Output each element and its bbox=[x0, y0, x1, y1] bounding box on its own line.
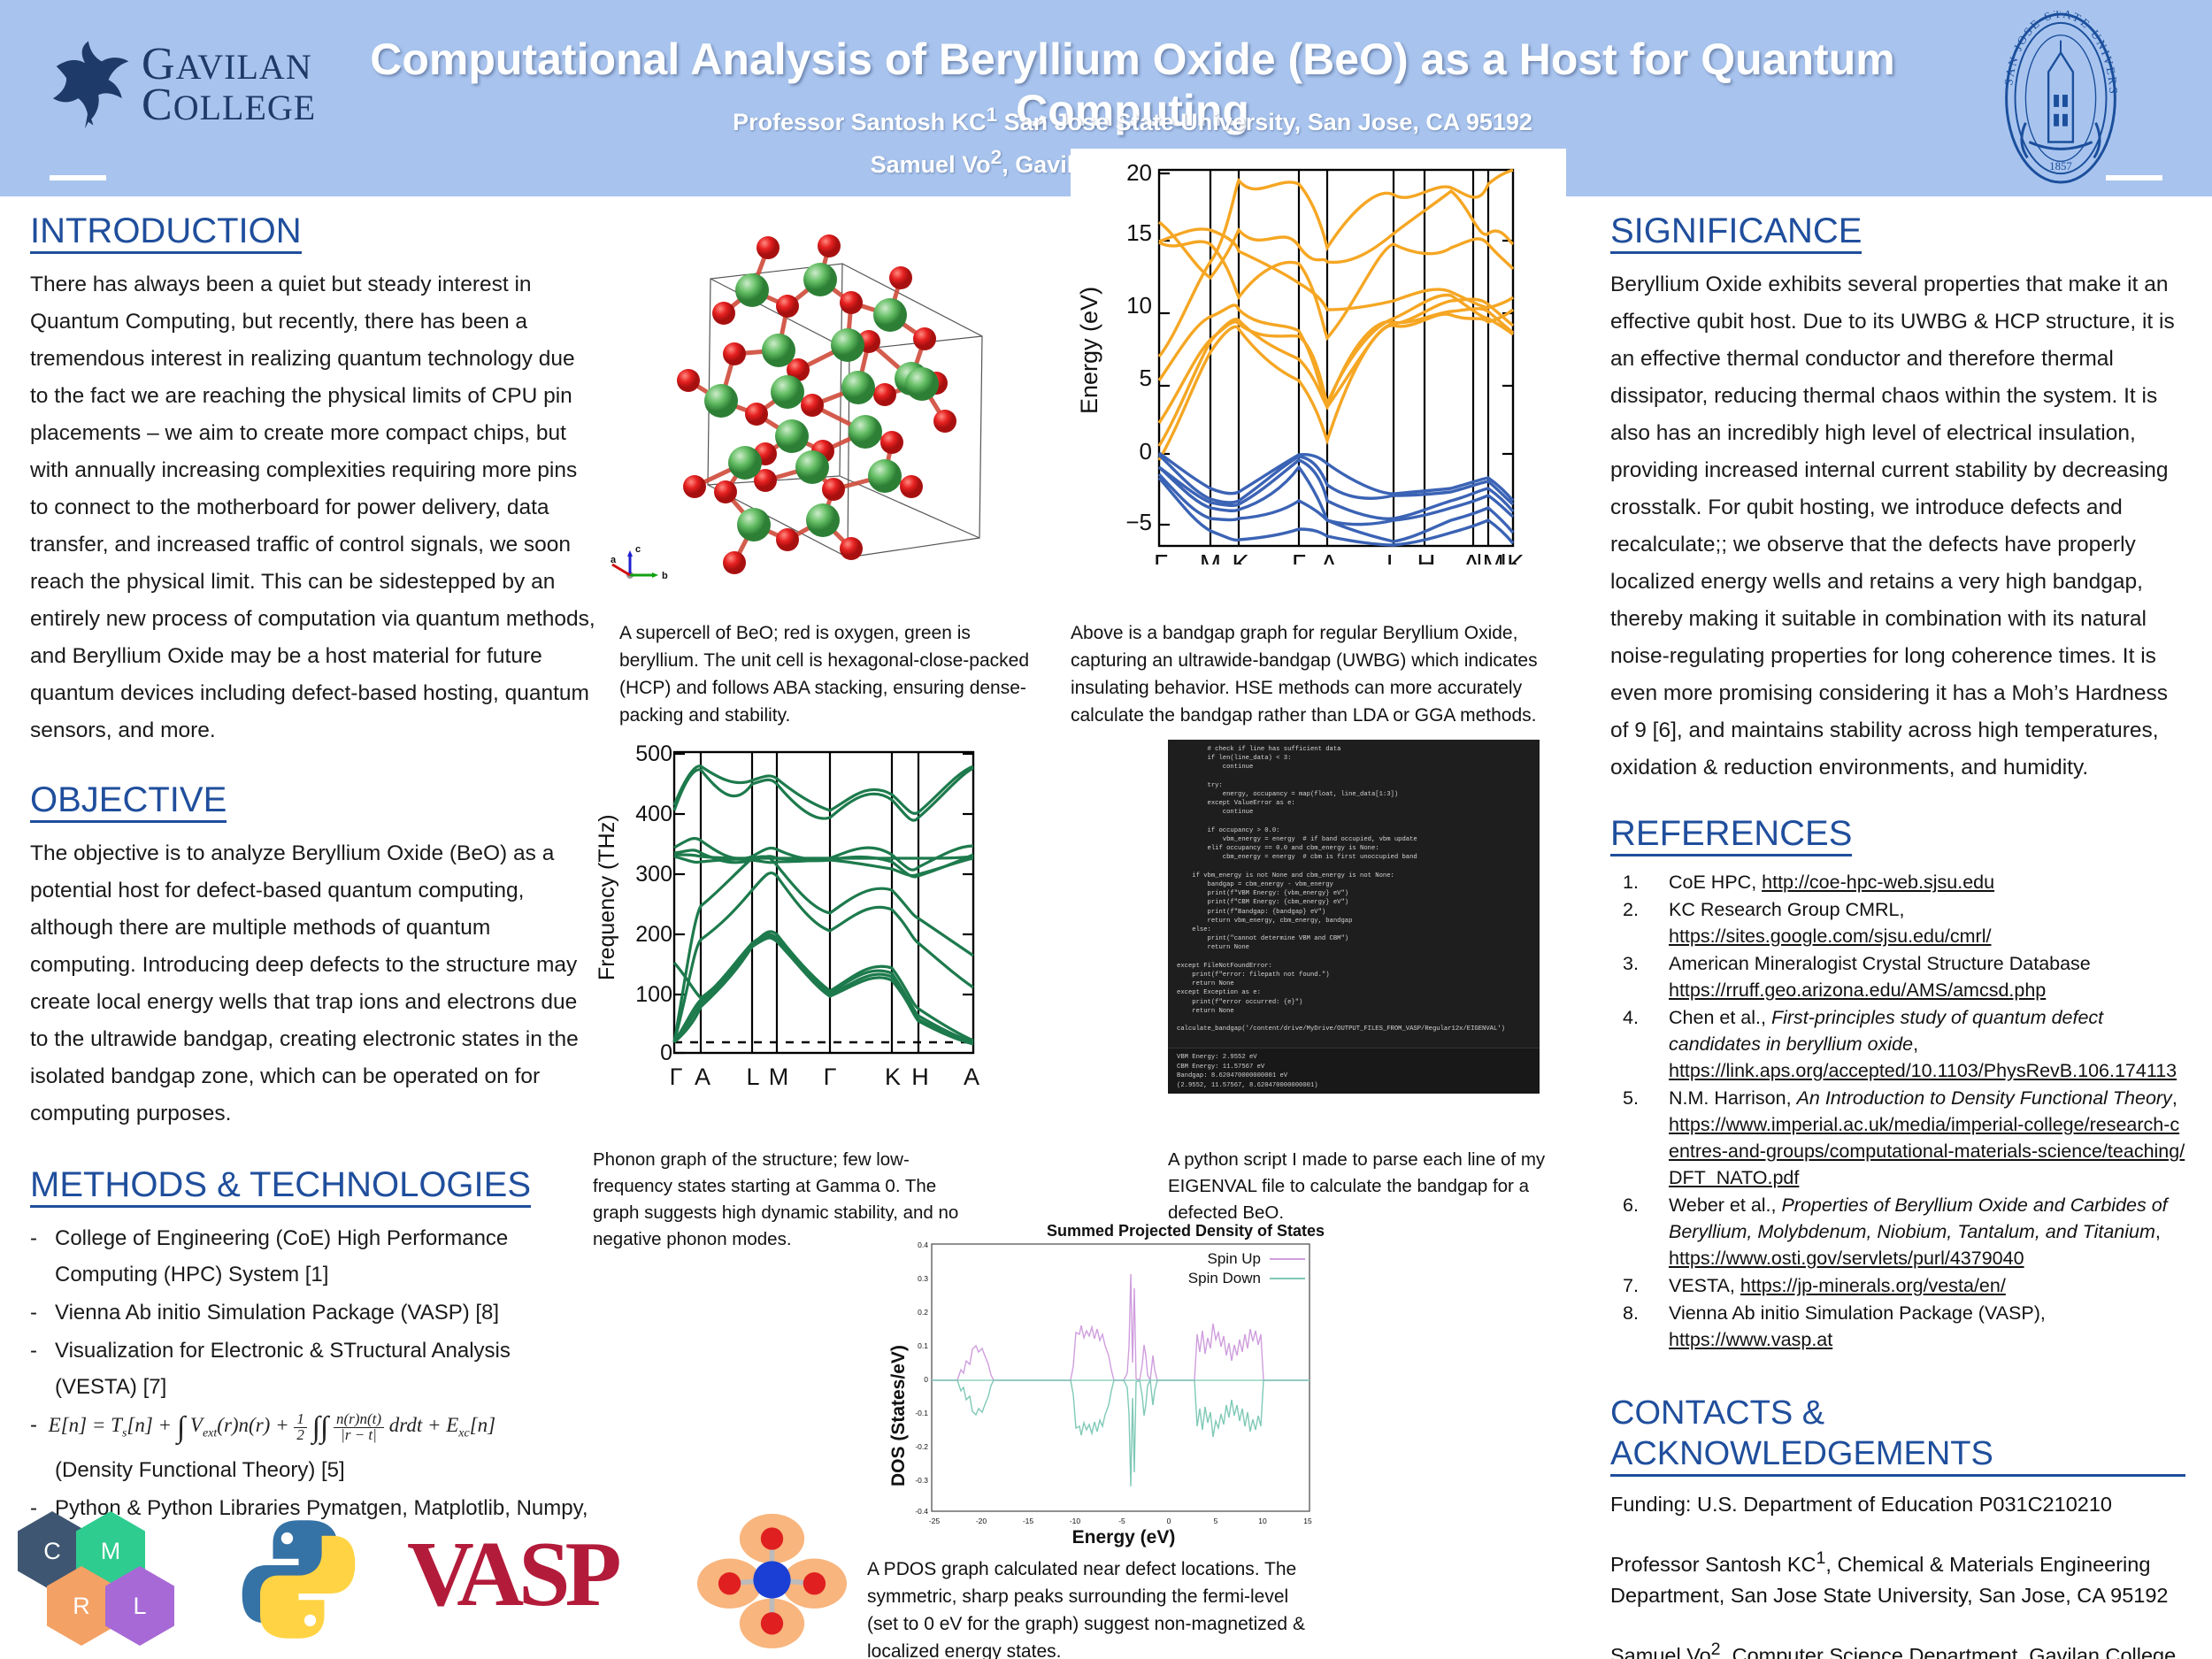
svg-text:|K: |K bbox=[1501, 550, 1525, 565]
svg-text:-0.3: -0.3 bbox=[915, 1476, 928, 1485]
band-structure-yticks: 201510 50−5 bbox=[1125, 159, 1152, 535]
svg-text:0: 0 bbox=[1140, 438, 1152, 465]
crystal-axes-indicator: c b a bbox=[611, 544, 668, 581]
svg-text:500: 500 bbox=[635, 741, 672, 766]
methods-list-item: - College of Engineering (CoE) High Perf… bbox=[30, 1220, 596, 1293]
svg-text:-10: -10 bbox=[1070, 1517, 1081, 1525]
svg-text:M: M bbox=[1200, 550, 1221, 565]
svg-text:15: 15 bbox=[1303, 1517, 1312, 1525]
python-logo-icon bbox=[234, 1513, 363, 1646]
gavilan-hawk-icon bbox=[51, 35, 135, 133]
svg-text:0.3: 0.3 bbox=[918, 1274, 928, 1283]
reference-link[interactable]: https://link.aps.org/accepted/10.1103/Ph… bbox=[1669, 1060, 2177, 1081]
reference-item: VESTA, https://jp-minerals.org/vesta/en/ bbox=[1610, 1272, 2185, 1299]
crystal-caption: A supercell of BeO; red is oxygen, green… bbox=[619, 619, 1035, 729]
sjsu-seal-year: 1857 bbox=[2049, 160, 2072, 173]
svg-text:10: 10 bbox=[1258, 1517, 1267, 1525]
introduction-text: There has always been a quiet but steady… bbox=[30, 266, 596, 749]
svg-text:300: 300 bbox=[635, 862, 672, 887]
band-structure-svg: Energy (eV) 201510 50−5 bbox=[1071, 149, 1566, 565]
svg-text:5: 5 bbox=[1140, 365, 1152, 391]
pdos-chart: Summed Projected Density of States DOS (… bbox=[858, 1221, 1513, 1548]
bullet-dash: - bbox=[30, 1294, 42, 1331]
funding-line: Funding: U.S. Department of Education P0… bbox=[1610, 1489, 2185, 1520]
phonon-ylabel: Frequency (THz) bbox=[595, 814, 619, 980]
section-heading-contacts: CONTACTS & ACKNOWLEDGEMENTS bbox=[1610, 1393, 2185, 1477]
conduction-bands bbox=[1159, 170, 1513, 460]
gavilan-wordmark: GGAVILANAVILAN COLLEGE bbox=[142, 46, 316, 127]
phonon-dispersion-svg: Frequency (THz) 500400300 2001000 bbox=[593, 741, 1035, 1113]
svg-text:L: L bbox=[1386, 550, 1401, 565]
svg-text:A: A bbox=[964, 1064, 979, 1090]
svg-text:5: 5 bbox=[1214, 1517, 1218, 1525]
beo-crystal-structure-image: c b a bbox=[611, 211, 1053, 600]
svg-text:a: a bbox=[611, 555, 617, 565]
svg-text:0.4: 0.4 bbox=[918, 1240, 928, 1249]
band-structure-chart: Energy (eV) 201510 50−5 bbox=[1071, 149, 1566, 565]
svg-text:-25: -25 bbox=[929, 1517, 941, 1525]
section-heading-objective: OBJECTIVE bbox=[30, 780, 227, 823]
section-heading-significance: SIGNIFICANCE bbox=[1610, 211, 1862, 254]
pdos-spin-down-series bbox=[932, 1380, 1310, 1486]
methods-list-item: - Vienna Ab initio Simulation Package (V… bbox=[30, 1294, 596, 1331]
dft-equation-caption: (Density Functional Theory) [5] bbox=[55, 1452, 596, 1488]
beo-supercell-figure: c b a bbox=[611, 211, 1053, 600]
phonon-dispersion-chart: Frequency (THz) 500400300 2001000 bbox=[593, 741, 1035, 1113]
pdos-xticks: -25-20-15 -10-50 51015 bbox=[929, 1517, 1312, 1525]
python-code-output: VBM Energy: 2.9552 eV CBM Energy: 11.575… bbox=[1168, 1048, 1540, 1094]
methods-item-label: Visualization for Electronic & STructura… bbox=[55, 1333, 596, 1405]
pdos-spin-up-series bbox=[932, 1274, 1310, 1380]
reference-link[interactable]: https://jp-minerals.org/vesta/en/ bbox=[1740, 1275, 2006, 1296]
svg-text:-0.2: -0.2 bbox=[915, 1442, 928, 1451]
reference-item: KC Research Group CMRL, https://sites.go… bbox=[1610, 896, 2185, 949]
author-line-1: Professor Santosh KC1 San Jose State Uni… bbox=[301, 97, 1964, 140]
phonon-kpath-labels: ΓAL MΓK HA bbox=[670, 1064, 979, 1090]
phonon-branches bbox=[674, 766, 973, 1044]
svg-text:-5: -5 bbox=[1118, 1517, 1125, 1525]
svg-text:10: 10 bbox=[1126, 292, 1152, 319]
methods-item-label: Vienna Ab initio Simulation Package (VAS… bbox=[55, 1294, 499, 1331]
pdos-legend: Spin Up Spin Down bbox=[1188, 1250, 1305, 1286]
reference-link[interactable]: http://coe-hpc-web.sjsu.edu bbox=[1762, 872, 1994, 893]
pdos-xlabel: Energy (eV) bbox=[1072, 1527, 1176, 1548]
svg-text:b: b bbox=[662, 571, 668, 581]
middle-column: c b a Energy (eV) 201510 50−5 bbox=[611, 211, 1575, 1659]
reference-item: CoE HPC, http://coe-hpc-web.sjsu.edu bbox=[1610, 869, 2185, 895]
reference-item: N.M. Harrison, An Introduction to Densit… bbox=[1610, 1085, 2185, 1191]
svg-text:H: H bbox=[1417, 550, 1436, 565]
svg-text:-0.4: -0.4 bbox=[915, 1507, 928, 1516]
svg-text:-0.1: -0.1 bbox=[915, 1409, 928, 1417]
contacts-body: Funding: U.S. Department of Education P0… bbox=[1610, 1489, 2185, 1659]
reference-item: Vienna Ab initio Simulation Package (VAS… bbox=[1610, 1300, 2185, 1353]
svg-text:0.2: 0.2 bbox=[918, 1308, 928, 1317]
svg-text:Γ: Γ bbox=[824, 1064, 837, 1090]
pdos-legend-label-spin-down: Spin Down bbox=[1188, 1270, 1261, 1286]
pdos-ylabel: DOS (States/eV) bbox=[888, 1345, 909, 1486]
pdos-yticks: 0.40.30.2 0.10-0.1 -0.2-0.3-0.4 bbox=[915, 1240, 928, 1516]
sjsu-seal-name: SAN JOSE STATE UNIVERSITY bbox=[1973, 11, 2120, 96]
svg-text:200: 200 bbox=[635, 922, 672, 947]
reference-link[interactable]: https://www.osti.gov/servlets/purl/43790… bbox=[1669, 1248, 2024, 1269]
svg-text:Γ: Γ bbox=[1292, 550, 1306, 565]
svg-text:100: 100 bbox=[635, 982, 672, 1007]
sjsu-seal-logo: 1857 SAN JOSE STATE UNIVERSITY bbox=[1973, 11, 2148, 186]
right-column: SIGNIFICANCE Beryllium Oxide exhibits se… bbox=[1610, 211, 2185, 1659]
poster-canvas: GGAVILANAVILAN COLLEGE Computational Ana… bbox=[0, 0, 2212, 1659]
significance-text: Beryllium Oxide exhibits several propert… bbox=[1610, 266, 2185, 787]
methods-item-label: College of Engineering (CoE) High Perfor… bbox=[55, 1220, 596, 1293]
gavilan-college-logo: GGAVILANAVILAN COLLEGE bbox=[51, 27, 308, 146]
svg-text:-15: -15 bbox=[1023, 1517, 1034, 1525]
svg-text:0: 0 bbox=[1167, 1517, 1171, 1525]
svg-text:K: K bbox=[885, 1064, 901, 1090]
svg-text:A: A bbox=[695, 1064, 710, 1090]
references-list: CoE HPC, http://coe-hpc-web.sjsu.edu KC … bbox=[1610, 869, 2185, 1353]
pdos-title: Summed Projected Density of States bbox=[1047, 1222, 1325, 1240]
python-script-screenshot: # check if line has sufficient data if l… bbox=[1168, 740, 1540, 1094]
cmrl-logo: C M R L bbox=[18, 1511, 195, 1648]
contact-professor: Professor Santosh KC1, Chemical & Materi… bbox=[1610, 1543, 2185, 1611]
pdos-legend-label-spin-up: Spin Up bbox=[1208, 1250, 1261, 1267]
python-code-text: # check if line has sufficient data if l… bbox=[1168, 740, 1540, 1034]
svg-text:Γ: Γ bbox=[1154, 550, 1168, 565]
methods-list-item-equation: - E[n] = Ts[n] + ∫ Vext(r)n(r) + 12 ∫∫ n… bbox=[30, 1407, 596, 1488]
contact-student: Samuel Vo2, Computer Science Department,… bbox=[1610, 1634, 2185, 1659]
bandgap-caption: Above is a bandgap graph for regular Ber… bbox=[1071, 619, 1548, 729]
bullet-dash: - bbox=[30, 1407, 42, 1443]
valence-bands bbox=[1159, 453, 1513, 545]
reference-item: Chen et al., First-principles study of q… bbox=[1610, 1004, 2185, 1084]
svg-text:20: 20 bbox=[1126, 159, 1152, 186]
header-rule-right bbox=[2106, 175, 2162, 180]
reference-link[interactable]: https://www.vasp.at bbox=[1669, 1329, 1832, 1350]
bullet-dash: - bbox=[30, 1333, 42, 1405]
objective-text: The objective is to analyze Beryllium Ox… bbox=[30, 835, 596, 1133]
code-caption: A python script I made to parse each lin… bbox=[1168, 1147, 1557, 1226]
svg-text:A: A bbox=[1320, 550, 1338, 565]
pdos-caption: A PDOS graph calculated near defect loca… bbox=[867, 1555, 1310, 1659]
svg-text:15: 15 bbox=[1126, 219, 1152, 246]
methods-list-item: - Visualization for Electronic & STructu… bbox=[30, 1333, 596, 1405]
phonon-yticks: 500400300 2001000 bbox=[635, 741, 672, 1065]
svg-text:−5: −5 bbox=[1125, 509, 1152, 535]
svg-text:H: H bbox=[911, 1064, 929, 1090]
pdos-svg: Summed Projected Density of States DOS (… bbox=[858, 1221, 1513, 1548]
left-column: INTRODUCTION There has always been a qui… bbox=[30, 211, 596, 1564]
reference-item: Weber et al., Properties of Beryllium Ox… bbox=[1610, 1192, 2185, 1271]
svg-text:M: M bbox=[769, 1064, 789, 1090]
bullet-dash: - bbox=[30, 1220, 42, 1293]
svg-text:0.1: 0.1 bbox=[918, 1341, 928, 1350]
reference-item: American Mineralogist Crystal Structure … bbox=[1610, 950, 2185, 1003]
section-heading-references: REFERENCES bbox=[1610, 813, 1852, 856]
band-structure-ylabel: Energy (eV) bbox=[1076, 287, 1102, 414]
reference-link[interactable]: https://rruff.geo.arizona.edu/AMS/amcsd.… bbox=[1669, 979, 2046, 1001]
section-heading-introduction: INTRODUCTION bbox=[30, 211, 302, 254]
svg-text:400: 400 bbox=[635, 802, 672, 826]
section-heading-methods: METHODS & TECHNOLOGIES bbox=[30, 1164, 531, 1208]
svg-text:L: L bbox=[746, 1064, 759, 1090]
dft-equation: E[n] = Ts[n] + ∫ Vext(r)n(r) + 12 ∫∫ n(r… bbox=[49, 1414, 495, 1436]
svg-text:c: c bbox=[635, 544, 641, 555]
reference-link[interactable]: https://sites.google.com/sjsu.edu/cmrl/ bbox=[1669, 926, 1991, 947]
svg-text:-20: -20 bbox=[976, 1517, 987, 1525]
band-structure-kpath-labels: ΓMK ΓAL HA|M |K bbox=[1154, 550, 1525, 565]
svg-text:Γ: Γ bbox=[670, 1064, 683, 1090]
reference-link[interactable]: https://www.imperial.ac.uk/media/imperia… bbox=[1669, 1114, 2185, 1188]
svg-text:0: 0 bbox=[924, 1375, 928, 1384]
header-rule-left bbox=[50, 175, 106, 180]
svg-text:0: 0 bbox=[660, 1041, 672, 1065]
svg-text:K: K bbox=[1232, 550, 1249, 565]
